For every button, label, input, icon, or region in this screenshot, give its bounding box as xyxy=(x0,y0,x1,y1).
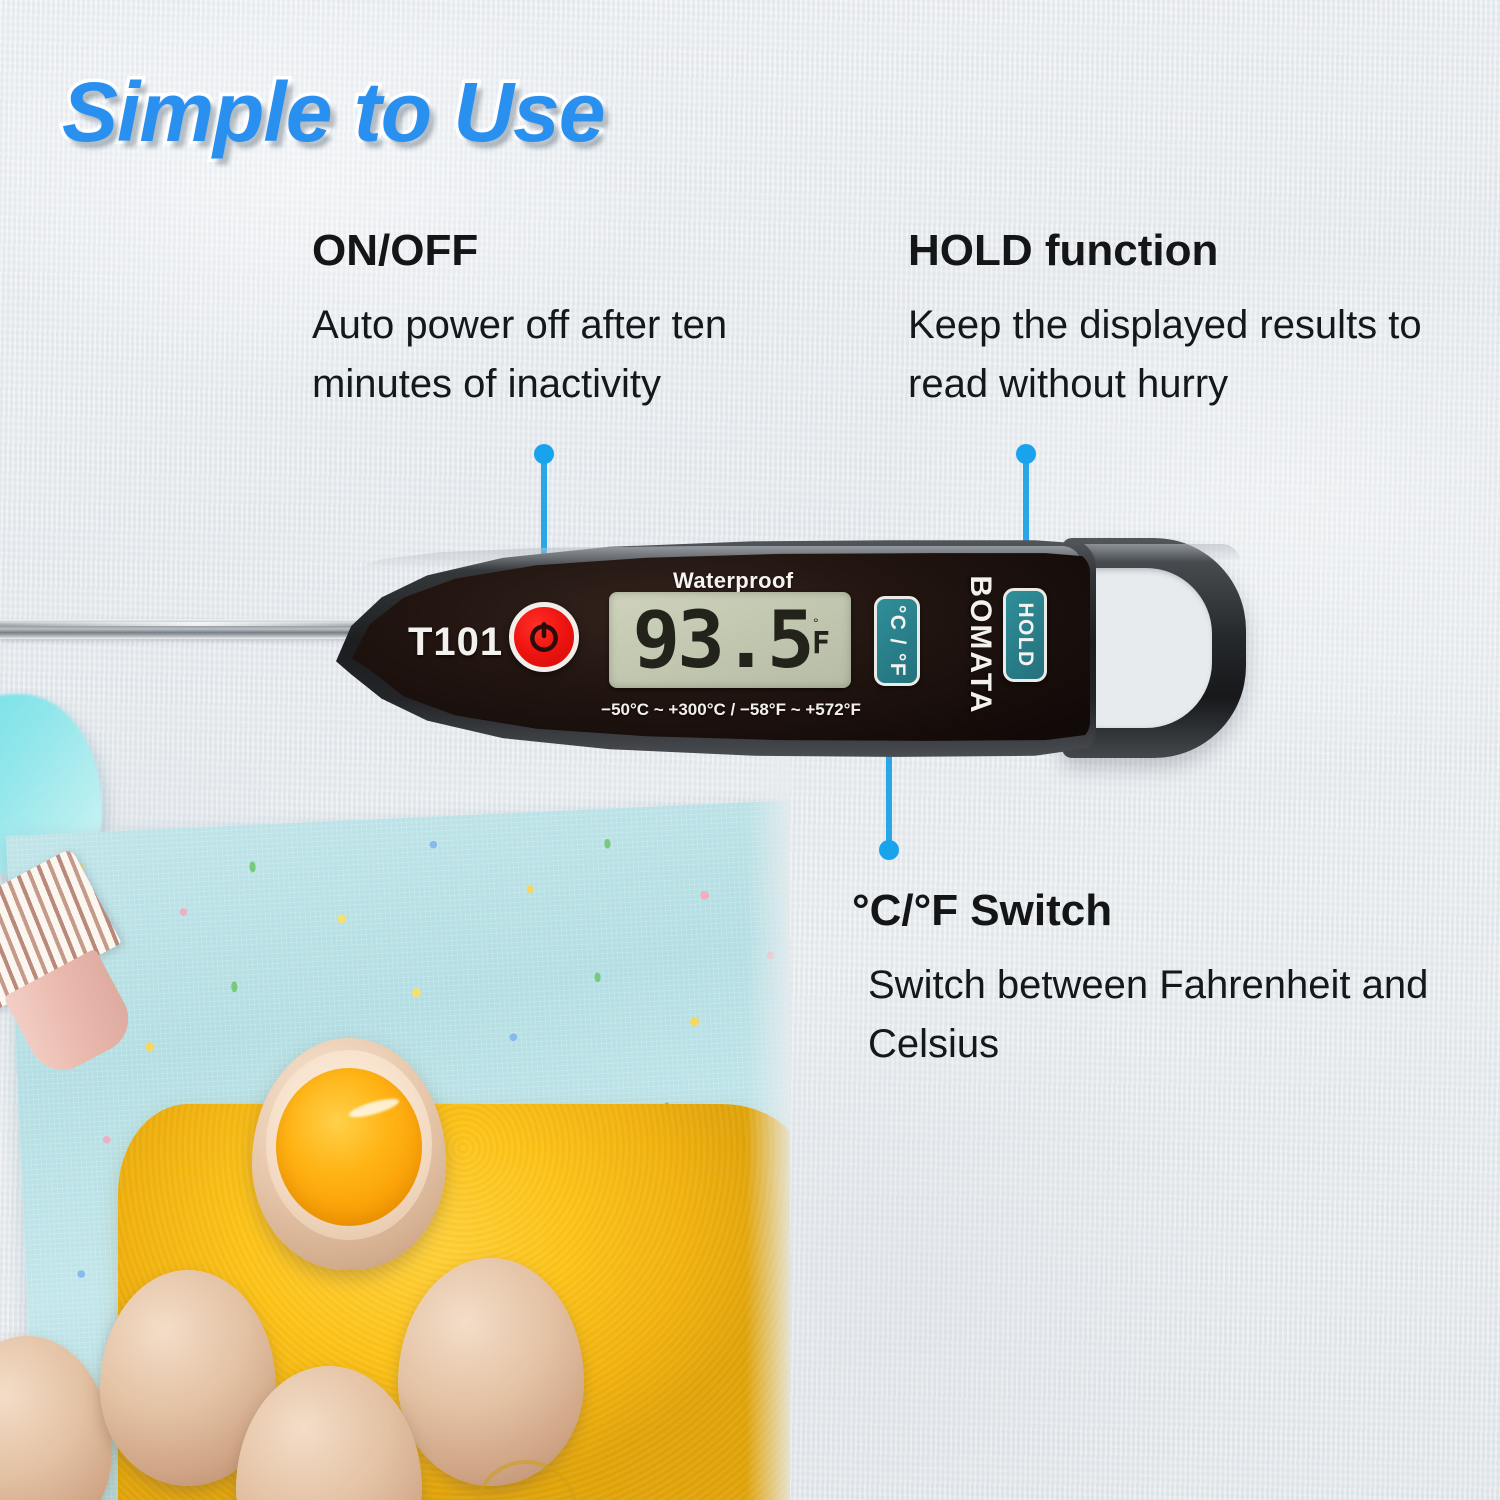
hold-button-label: HOLD xyxy=(1013,593,1037,677)
callout-body-hold: Keep the displayed results to read witho… xyxy=(908,296,1488,414)
hanging-loop-highlight xyxy=(1070,544,1240,562)
callout-heading-onoff: ON/OFF xyxy=(312,226,478,276)
temperature-unit-indicator: ° F xyxy=(812,618,829,659)
cf-switch-button-label: °C / °F xyxy=(885,598,909,684)
callout-body-cf-switch: Switch between Fahrenheit and Celsius xyxy=(868,956,1478,1074)
hanging-loop-hole xyxy=(1086,568,1212,728)
callout-heading-cf-switch: °C/°F Switch xyxy=(852,886,1112,936)
model-number-label: T101 xyxy=(408,620,503,665)
probe-highlight xyxy=(0,622,360,626)
temperature-reading: 93.5 xyxy=(620,594,824,688)
egg-yolk xyxy=(276,1068,422,1226)
kitchen-photo xyxy=(0,688,790,1500)
leader-dot-cf-switch xyxy=(879,840,899,860)
page-title: Simple to Use xyxy=(62,64,604,161)
power-icon xyxy=(527,620,561,654)
leader-dot-hold xyxy=(1016,444,1036,464)
measurement-range-label: −50°C ~ +300°C / −58°F ~ +572°F xyxy=(600,700,862,720)
callout-heading-hold: HOLD function xyxy=(908,226,1218,276)
callout-body-onoff: Auto power off after ten minutes of inac… xyxy=(312,296,872,414)
brand-name: BOMATA xyxy=(963,565,997,725)
infographic-canvas: Simple to Use ON/OFF Auto power off afte… xyxy=(0,0,1500,1500)
unit-letter: F xyxy=(812,629,829,659)
photo-edge-fade xyxy=(746,688,790,1500)
leader-dot-onoff xyxy=(534,444,554,464)
waterproof-label: Waterproof xyxy=(673,568,794,594)
